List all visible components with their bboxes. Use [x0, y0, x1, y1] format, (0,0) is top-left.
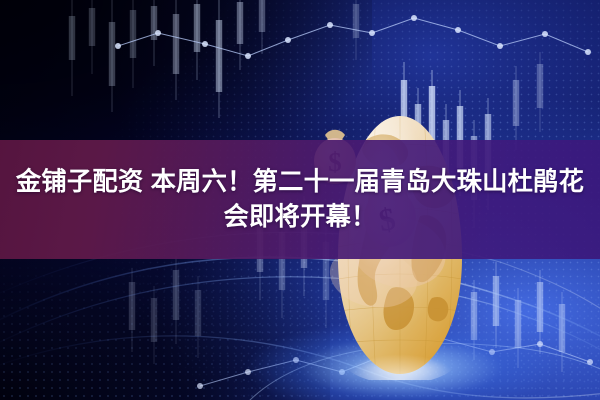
headline-text-block: 金铺子配资 本周六！第二十一届青岛大珠山杜鹃花 会即将开幕！ — [0, 140, 600, 259]
headline-line-2: 会即将开幕！ — [224, 202, 377, 233]
promo-banner-image: $ $ 金铺子配资 本周六！第二十一届青岛大珠山杜鹃花 会即将开幕！ — [0, 0, 600, 400]
headline-line-1: 金铺子配资 本周六！第二十一届青岛大珠山杜鹃花 — [16, 167, 584, 198]
